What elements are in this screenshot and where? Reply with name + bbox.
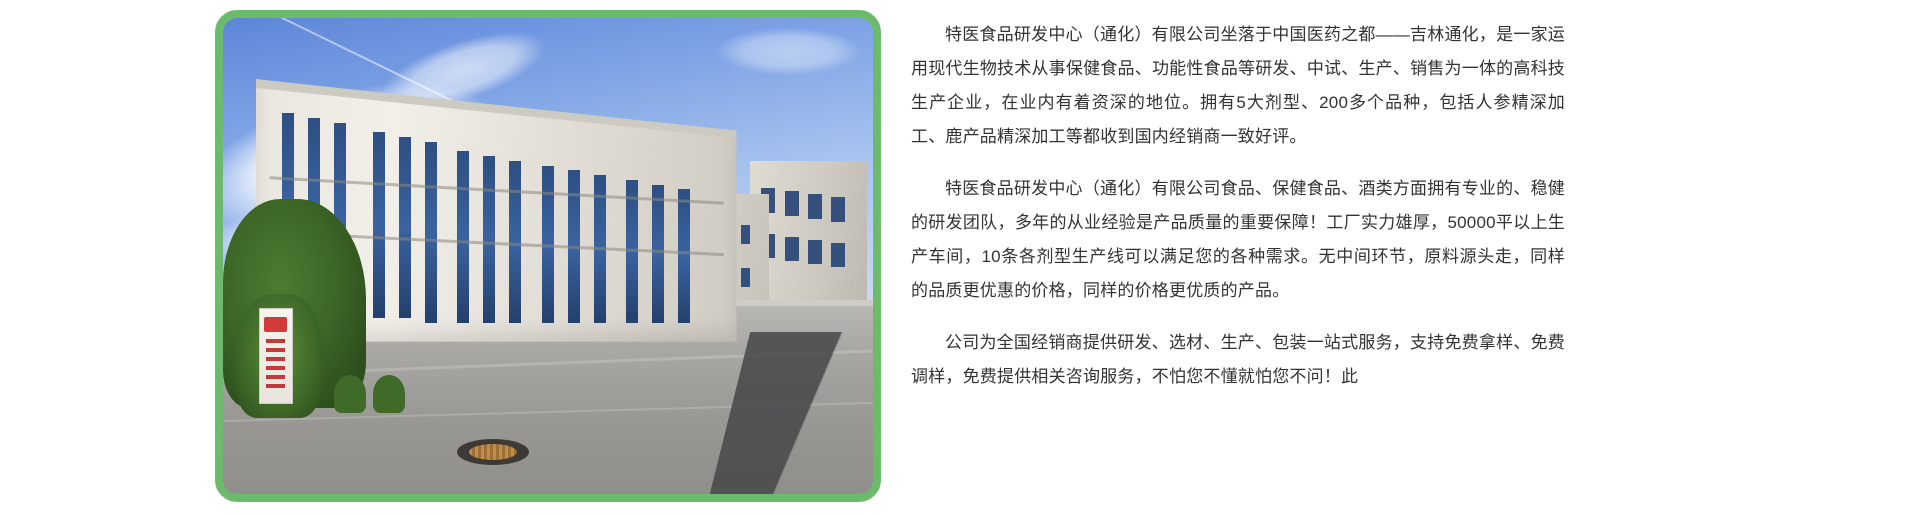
intro-paragraph-2: 特医食品研发中心（通化）有限公司食品、保健食品、酒类方面拥有专业的、稳健的研发团…: [911, 172, 1565, 308]
page-root: 特医食品研发中心（通化）有限公司坐落于中国医药之都——吉林通化，是一家运用现代生…: [0, 0, 1920, 515]
building-window: [652, 185, 664, 323]
intro-paragraph-3: 公司为全国经销商提供研发、选材、生产、包装一站式服务，支持免费拿样、免费调样，免…: [911, 326, 1565, 394]
building-window: [457, 151, 469, 322]
building-window: [483, 156, 495, 323]
shrub: [334, 375, 367, 413]
entrance-signboard: [259, 308, 293, 403]
intro-paragraph-1: 特医食品研发中心（通化）有限公司坐落于中国医药之都——吉林通化，是一家运用现代生…: [911, 18, 1565, 154]
factory-photo: [223, 18, 873, 494]
building-window: [678, 189, 690, 322]
shrub: [373, 375, 406, 413]
building-window: [425, 142, 437, 323]
building-window: [373, 132, 385, 318]
company-intro-text: 特医食品研发中心（通化）有限公司坐落于中国医药之都——吉林通化，是一家运用现代生…: [911, 10, 1565, 394]
building-window: [399, 137, 411, 318]
company-intro-section: 特医食品研发中心（通化）有限公司坐落于中国医药之都——吉林通化，是一家运用现代生…: [215, 10, 1565, 510]
factory-photo-frame: [215, 10, 881, 502]
